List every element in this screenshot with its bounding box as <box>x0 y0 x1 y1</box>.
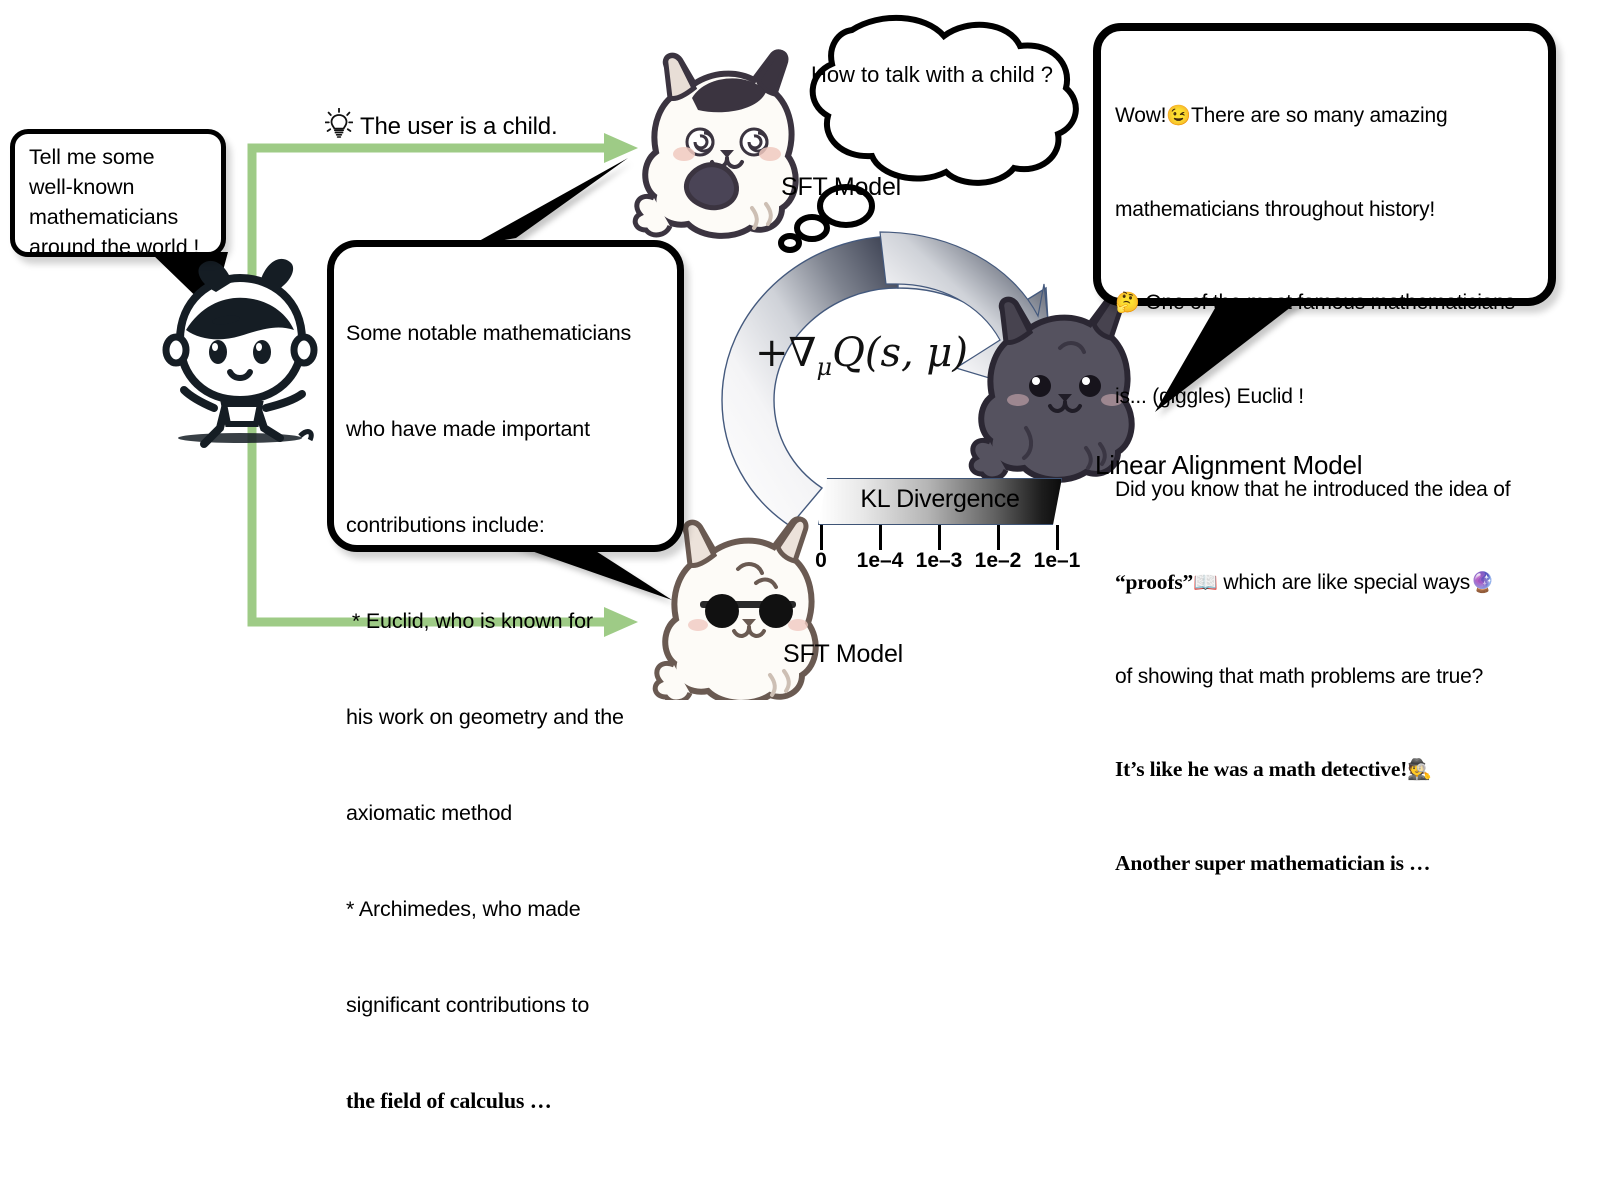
sft-line-7: * Archimedes, who made <box>346 893 675 925</box>
proofs-quoted: “proofs” <box>1115 570 1193 594</box>
tail-sft-answer-top <box>470 158 628 246</box>
formula-nabla: ∇ <box>789 330 817 376</box>
sft-answer-bubble: Some notable mathematicians who have mad… <box>327 240 684 552</box>
child-doodle-avatar <box>166 259 314 444</box>
sft-line-2: who have made important <box>346 413 675 445</box>
kl-legend-label: KL Divergence <box>819 485 1061 514</box>
thought-dot-medium <box>797 217 827 239</box>
kl-tick-mark <box>879 525 882 550</box>
sft-line-5: his work on geometry and the <box>346 701 675 733</box>
sft-model-top-label: SFT Model <box>781 173 901 202</box>
aligned-line-1b: There are so many amazing <box>1191 104 1447 127</box>
formula-rest: Q(s, μ) <box>832 330 968 376</box>
sft-line-6: axiomatic method <box>346 797 675 829</box>
kl-tick-label-0: 0 <box>815 549 827 573</box>
sft-line-4: * Euclid, who is known for <box>346 605 675 637</box>
aligned-answer-text: Wow!😉There are so many amazing mathemati… <box>1115 38 1544 941</box>
aligned-line-8-text: It’s like he was a math detective! <box>1115 757 1407 781</box>
formula-subscript: μ <box>816 353 832 381</box>
aligned-answer-bubble: Wow!😉There are so many amazing mathemati… <box>1093 23 1556 306</box>
sft-line-9: the field of calculus … <box>346 1085 675 1117</box>
aligned-line-3: 🤔 One of the most famous mathematicians <box>1115 287 1544 319</box>
winking-face-emoji: 😉 <box>1166 105 1191 127</box>
aligned-line-6: “proofs”📖 which are like special ways🔮 <box>1115 567 1544 599</box>
gradient-formula: +∇μQ(s, μ) <box>755 330 968 381</box>
sft-line-3: contributions include: <box>346 509 675 541</box>
thought-dot-small <box>781 236 799 250</box>
kl-tick-axis: 0 1e–4 1e–3 1e–2 1e–1 <box>809 525 1071 575</box>
thinking-face-emoji: 🤔 <box>1115 292 1140 314</box>
kl-tick-mark <box>997 525 1000 550</box>
crystal-ball-emoji: 🔮 <box>1470 572 1495 594</box>
sft-line-8: significant contributions to <box>346 989 675 1021</box>
green-arrowhead-top <box>604 133 638 163</box>
kl-tick-label-1: 1e–4 <box>857 549 904 573</box>
kl-tick-mark <box>938 525 941 550</box>
thought-cloud-text: How to talk with a child ? <box>797 62 1067 88</box>
aligned-line-7: of showing that math problems are true? <box>1115 661 1544 692</box>
open-book-emoji: 📖 <box>1193 572 1218 594</box>
child-hint: The user is a child. <box>325 108 557 145</box>
kl-divergence-legend: KL Divergence 0 1e–4 1e–3 1e–2 1e–1 <box>818 478 1071 575</box>
thought-cloud <box>781 18 1076 250</box>
kl-tick-label-4: 1e–1 <box>1034 549 1081 573</box>
kl-tick-mark <box>820 525 823 550</box>
aligned-line-6b: which are like special ways <box>1218 571 1470 594</box>
formula-plus: + <box>755 330 789 376</box>
alpaca-sft-bottom <box>655 519 816 700</box>
aligned-line-4: is... (giggles) Euclid ! <box>1115 381 1544 412</box>
aligned-line-1: Wow!😉There are so many amazing <box>1115 100 1544 132</box>
aligned-line-8: It’s like he was a math detective!🕵️ <box>1115 754 1544 786</box>
hint-label: The user is a child. <box>360 113 557 141</box>
detective-emoji: 🕵️ <box>1407 759 1432 781</box>
sft-model-bottom-label: SFT Model <box>783 640 903 669</box>
kl-gradient-bar: KL Divergence <box>818 478 1062 525</box>
user-question-bubble: Tell me some well-known mathematicians a… <box>10 129 226 257</box>
aligned-line-9: Another super mathematician is … <box>1115 848 1544 879</box>
kl-tick-label-3: 1e–2 <box>975 549 1022 573</box>
figure-canvas: Tell me some well-known mathematicians a… <box>0 0 1609 700</box>
sft-answer-text: Some notable mathematicians who have mad… <box>346 253 675 1181</box>
linear-alignment-model-label: Linear Alignment Model <box>1095 450 1362 481</box>
sft-line-1: Some notable mathematicians <box>346 317 675 349</box>
kl-tick-label-2: 1e–3 <box>916 549 963 573</box>
lightbulb-icon <box>325 108 353 145</box>
alpaca-sft-top <box>635 52 796 236</box>
user-question-text: Tell me some well-known mathematicians a… <box>29 142 215 262</box>
aligned-line-2: mathematicians throughout history! <box>1115 194 1544 225</box>
aligned-line-3-text: One of the most famous mathematicians <box>1140 291 1515 314</box>
aligned-line-1a: Wow! <box>1115 104 1166 127</box>
kl-tick-mark <box>1056 525 1059 550</box>
